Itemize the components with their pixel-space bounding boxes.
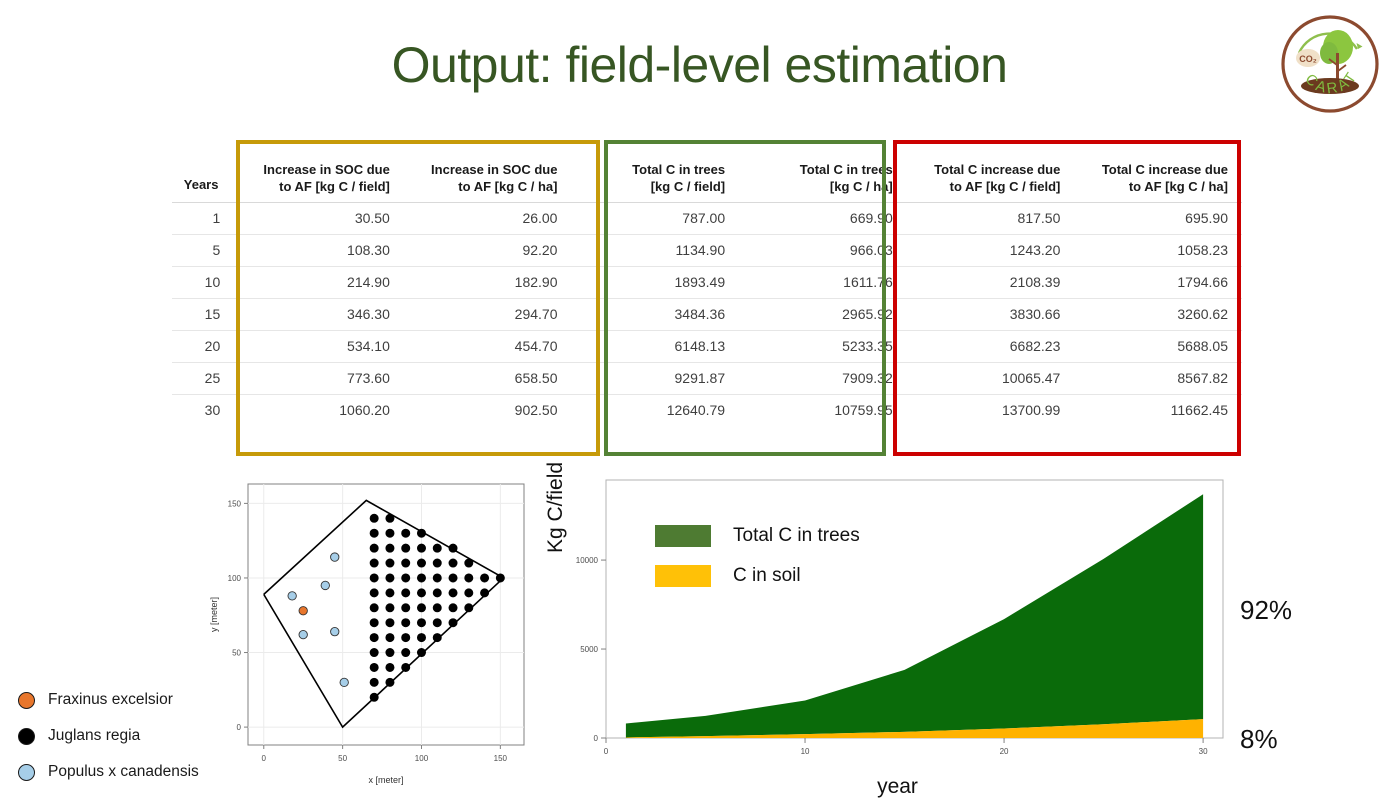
area-legend-swatch-trees-icon xyxy=(655,525,711,547)
table-cell-soc_ha: 454.70 xyxy=(404,330,572,362)
table-body: 130.5026.00787.00669.90817.50695.905108.… xyxy=(172,202,1242,426)
table-cell-trees_ha: 7909.32 xyxy=(739,362,907,394)
table-cell-total_field: 1243.20 xyxy=(907,234,1075,266)
tree-point-juglans-regia xyxy=(370,574,378,582)
table-cell-soc_field: 214.90 xyxy=(236,266,404,298)
tree-point-juglans-regia xyxy=(417,619,425,627)
tree-point-juglans-regia xyxy=(417,529,425,537)
results-table: Years Increase in SOC due to AF [kg C / … xyxy=(172,140,1242,426)
tree-point-juglans-regia xyxy=(449,559,457,567)
tree-point-juglans-regia xyxy=(370,663,378,671)
table-cell-soc_field: 346.30 xyxy=(236,298,404,330)
table-cell-soc_ha: 658.50 xyxy=(404,362,572,394)
table-cell-years: 30 xyxy=(172,394,236,426)
area-legend-label-trees: Total C in trees xyxy=(733,525,860,547)
tree-point-juglans-regia xyxy=(433,574,441,582)
table-cell-total_ha: 1058.23 xyxy=(1074,234,1242,266)
table-cell-total_ha: 5688.05 xyxy=(1074,330,1242,362)
table-cell-trees_ha: 2965.92 xyxy=(739,298,907,330)
tree-point-juglans-regia xyxy=(370,559,378,567)
column-header-years: Years xyxy=(172,140,236,202)
tree-point-juglans-regia xyxy=(386,514,394,522)
area-legend-item-trees: Total C in trees xyxy=(655,516,860,556)
scatter-y-axis-label: y [meter] xyxy=(209,597,219,632)
scatter-xtick-label: 50 xyxy=(338,754,347,763)
tree-point-juglans-regia xyxy=(370,633,378,641)
table-cell-trees_field: 3484.36 xyxy=(571,298,739,330)
tree-point-juglans-regia xyxy=(433,544,441,552)
table-cell-soc_ha: 92.20 xyxy=(404,234,572,266)
column-header-trees-ha: Total C in trees [kg C / ha] xyxy=(739,140,907,202)
legend-item-fraxinus: Fraxinus excelsior xyxy=(18,682,248,718)
species-dot-juglans-icon xyxy=(18,728,35,745)
tree-point-juglans-regia xyxy=(465,559,473,567)
tree-point-juglans-regia xyxy=(402,619,410,627)
tree-point-juglans-regia xyxy=(433,589,441,597)
tree-point-juglans-regia xyxy=(480,589,488,597)
scatter-xtick-label: 100 xyxy=(415,754,429,763)
tree-point-populus-x-canadensis xyxy=(340,678,348,686)
scatter-ytick-label: 150 xyxy=(228,499,242,508)
table-row: 20534.10454.706148.135233.356682.235688.… xyxy=(172,330,1242,362)
table-row: 301060.20902.5012640.7910759.9513700.991… xyxy=(172,394,1242,426)
table-cell-years: 20 xyxy=(172,330,236,362)
table-cell-years: 5 xyxy=(172,234,236,266)
table-cell-soc_field: 108.30 xyxy=(236,234,404,266)
species-label-fraxinus: Fraxinus excelsior xyxy=(48,691,173,709)
tree-point-juglans-regia xyxy=(370,693,378,701)
tree-point-populus-x-canadensis xyxy=(288,592,296,600)
tree-point-fraxinus-excelsior xyxy=(299,607,307,615)
table-row: 5108.3092.201134.90966.031243.201058.23 xyxy=(172,234,1242,266)
table-cell-total_field: 6682.23 xyxy=(907,330,1075,362)
table-cell-total_field: 817.50 xyxy=(907,202,1075,234)
tree-point-juglans-regia xyxy=(386,589,394,597)
tree-point-juglans-regia xyxy=(433,633,441,641)
tree-point-juglans-regia xyxy=(433,619,441,627)
tree-point-juglans-regia xyxy=(402,559,410,567)
area-chart-y-axis-label: Kg C/field xyxy=(544,462,568,553)
tree-point-juglans-regia xyxy=(370,544,378,552)
logo-co2-text: CO₂ xyxy=(1299,54,1317,64)
table-cell-trees_field: 1893.49 xyxy=(571,266,739,298)
tree-point-juglans-regia xyxy=(417,574,425,582)
annotation-soil-percentage: 8% xyxy=(1240,724,1278,755)
area-xtick-label: 30 xyxy=(1199,747,1208,756)
tree-point-juglans-regia xyxy=(386,559,394,567)
table-cell-soc_field: 534.10 xyxy=(236,330,404,362)
tree-point-populus-x-canadensis xyxy=(321,581,329,589)
legend-item-juglans: Juglans regia xyxy=(18,718,248,754)
area-legend-swatch-soil-icon xyxy=(655,565,711,587)
table-cell-trees_ha: 10759.95 xyxy=(739,394,907,426)
scatter-xtick-label: 150 xyxy=(494,754,508,763)
tree-point-juglans-regia xyxy=(465,589,473,597)
column-header-total-ha: Total C increase due to AF [kg C / ha] xyxy=(1074,140,1242,202)
tree-point-juglans-regia xyxy=(417,648,425,656)
table-cell-total_field: 3830.66 xyxy=(907,298,1075,330)
tree-point-juglans-regia xyxy=(496,574,504,582)
table-cell-soc_ha: 26.00 xyxy=(404,202,572,234)
scatter-ytick-label: 100 xyxy=(228,574,242,583)
table-cell-trees_field: 12640.79 xyxy=(571,394,739,426)
table-row: 130.5026.00787.00669.90817.50695.90 xyxy=(172,202,1242,234)
tree-point-juglans-regia xyxy=(433,559,441,567)
column-header-soc-field: Increase in SOC due to AF [kg C / field] xyxy=(236,140,404,202)
tree-point-juglans-regia xyxy=(386,633,394,641)
column-header-soc-ha: Increase in SOC due to AF [kg C / ha] xyxy=(404,140,572,202)
table-cell-soc_field: 30.50 xyxy=(236,202,404,234)
table-head: Years Increase in SOC due to AF [kg C / … xyxy=(172,140,1242,202)
table-row: 25773.60658.509291.877909.3210065.478567… xyxy=(172,362,1242,394)
tree-point-juglans-regia xyxy=(402,589,410,597)
species-label-populus: Populus x canadensis xyxy=(48,763,199,781)
tree-point-juglans-regia xyxy=(386,648,394,656)
table-cell-total_field: 13700.99 xyxy=(907,394,1075,426)
tree-point-juglans-regia xyxy=(402,633,410,641)
area-xtick-label: 20 xyxy=(1000,747,1009,756)
tree-point-populus-x-canadensis xyxy=(331,627,339,635)
scatter-plot-area xyxy=(248,484,524,745)
table-cell-trees_ha: 966.03 xyxy=(739,234,907,266)
tree-point-juglans-regia xyxy=(386,619,394,627)
tree-point-juglans-regia xyxy=(386,663,394,671)
table-cell-trees_field: 9291.87 xyxy=(571,362,739,394)
species-label-juglans: Juglans regia xyxy=(48,727,140,745)
species-dot-populus-icon xyxy=(18,764,35,781)
table-cell-total_field: 2108.39 xyxy=(907,266,1075,298)
species-dot-fraxinus-icon xyxy=(18,692,35,709)
tree-point-juglans-regia xyxy=(370,619,378,627)
table-cell-total_ha: 1794.66 xyxy=(1074,266,1242,298)
tree-point-juglans-regia xyxy=(465,604,473,612)
tree-point-juglans-regia xyxy=(370,604,378,612)
tree-point-juglans-regia xyxy=(370,529,378,537)
tree-point-juglans-regia xyxy=(370,514,378,522)
table-cell-trees_ha: 1611.76 xyxy=(739,266,907,298)
page-title: Output: field-level estimation xyxy=(0,36,1399,94)
table-cell-total_field: 10065.47 xyxy=(907,362,1075,394)
table-cell-trees_ha: 5233.35 xyxy=(739,330,907,362)
table-row: 15346.30294.703484.362965.923830.663260.… xyxy=(172,298,1242,330)
tree-point-juglans-regia xyxy=(433,604,441,612)
tree-point-juglans-regia xyxy=(417,633,425,641)
table-cell-soc_ha: 182.90 xyxy=(404,266,572,298)
tree-point-juglans-regia xyxy=(417,559,425,567)
tree-point-juglans-regia xyxy=(417,604,425,612)
tree-point-populus-x-canadensis xyxy=(331,553,339,561)
table-cell-years: 1 xyxy=(172,202,236,234)
tree-point-juglans-regia xyxy=(449,604,457,612)
species-legend: Fraxinus excelsior Juglans regia Populus… xyxy=(18,682,248,790)
tree-point-juglans-regia xyxy=(386,544,394,552)
tree-point-juglans-regia xyxy=(402,648,410,656)
tree-point-juglans-regia xyxy=(449,544,457,552)
carat-logo-svg: CO₂ CARAT xyxy=(1279,13,1381,115)
column-header-trees-field: Total C in trees [kg C / field] xyxy=(571,140,739,202)
tree-point-juglans-regia xyxy=(465,574,473,582)
tree-point-juglans-regia xyxy=(370,589,378,597)
tree-point-juglans-regia xyxy=(417,589,425,597)
tree-point-juglans-regia xyxy=(370,678,378,686)
table-cell-trees_field: 787.00 xyxy=(571,202,739,234)
table-cell-trees_field: 1134.90 xyxy=(571,234,739,266)
table-cell-total_ha: 3260.62 xyxy=(1074,298,1242,330)
tree-point-juglans-regia xyxy=(449,619,457,627)
area-chart-x-axis-label: year xyxy=(560,775,1235,799)
table-cell-total_ha: 695.90 xyxy=(1074,202,1242,234)
table-cell-years: 25 xyxy=(172,362,236,394)
column-header-total-field: Total C increase due to AF [kg C / field… xyxy=(907,140,1075,202)
tree-point-juglans-regia xyxy=(480,574,488,582)
table-cell-soc_field: 1060.20 xyxy=(236,394,404,426)
carat-logo: CO₂ CARAT xyxy=(1279,13,1381,115)
area-chart-legend: Total C in trees C in soil xyxy=(655,516,860,596)
annotation-trees-percentage: 92% xyxy=(1240,595,1292,626)
table-row: 10214.90182.901893.491611.762108.391794.… xyxy=(172,266,1242,298)
area-legend-item-soil: C in soil xyxy=(655,556,860,596)
table-cell-years: 15 xyxy=(172,298,236,330)
table-cell-years: 10 xyxy=(172,266,236,298)
tree-point-juglans-regia xyxy=(449,574,457,582)
legend-item-populus: Populus x canadensis xyxy=(18,754,248,790)
table-cell-trees_ha: 669.90 xyxy=(739,202,907,234)
tree-point-juglans-regia xyxy=(370,648,378,656)
tree-point-juglans-regia xyxy=(386,574,394,582)
scatter-x-axis-label: x [meter] xyxy=(368,775,403,785)
table-cell-soc_ha: 902.50 xyxy=(404,394,572,426)
tree-point-juglans-regia xyxy=(402,544,410,552)
scatter-xtick-label: 0 xyxy=(262,754,267,763)
area-legend-label-soil: C in soil xyxy=(733,565,801,587)
area-ytick-label: 5000 xyxy=(580,645,598,654)
tree-point-juglans-regia xyxy=(402,529,410,537)
table-cell-soc_ha: 294.70 xyxy=(404,298,572,330)
table-cell-total_ha: 11662.45 xyxy=(1074,394,1242,426)
logo-tree-crown-left xyxy=(1320,42,1338,64)
field-tree-map-svg: 050100150050100150x [meter]y [meter] xyxy=(206,474,536,789)
table-cell-soc_field: 773.60 xyxy=(236,362,404,394)
field-tree-map-chart: 050100150050100150x [meter]y [meter] xyxy=(206,474,536,789)
results-table-container: Years Increase in SOC due to AF [kg C / … xyxy=(172,140,1242,426)
tree-point-juglans-regia xyxy=(449,589,457,597)
scatter-ytick-label: 50 xyxy=(232,649,241,658)
tree-point-juglans-regia xyxy=(402,663,410,671)
tree-point-juglans-regia xyxy=(402,574,410,582)
table-header-row: Years Increase in SOC due to AF [kg C / … xyxy=(172,140,1242,202)
table-cell-trees_field: 6148.13 xyxy=(571,330,739,362)
tree-point-juglans-regia xyxy=(386,678,394,686)
tree-point-populus-x-canadensis xyxy=(299,630,307,638)
tree-point-juglans-regia xyxy=(386,604,394,612)
tree-point-juglans-regia xyxy=(402,604,410,612)
area-ytick-label: 10000 xyxy=(576,556,599,565)
tree-point-juglans-regia xyxy=(386,529,394,537)
area-xtick-label: 10 xyxy=(801,747,810,756)
area-ytick-label: 0 xyxy=(594,734,599,743)
table-cell-total_ha: 8567.82 xyxy=(1074,362,1242,394)
tree-point-juglans-regia xyxy=(417,544,425,552)
area-xtick-label: 0 xyxy=(604,747,609,756)
